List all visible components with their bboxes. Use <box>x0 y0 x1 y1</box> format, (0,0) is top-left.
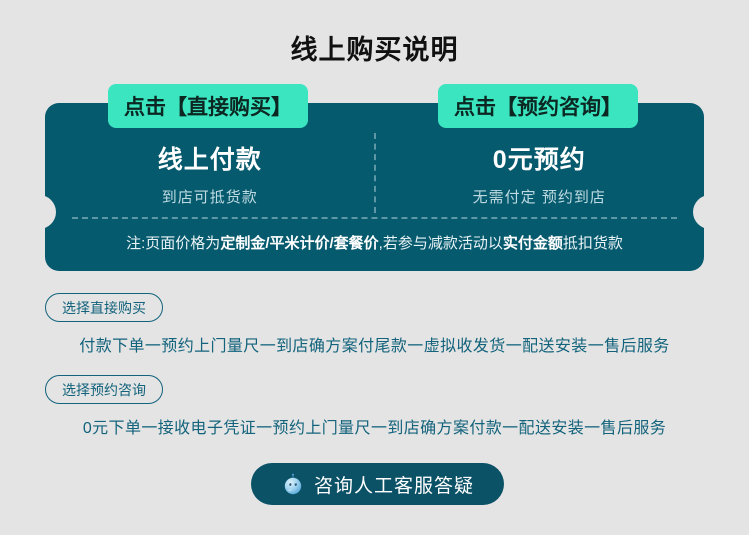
badge-appointment-consult-label: 点击【预约咨询】 <box>454 91 622 121</box>
price-note-emphasis-2: 实付金额 <box>503 235 563 252</box>
pill-select-appointment-consult-label: 选择预约咨询 <box>62 380 146 400</box>
column-zero-deposit-heading: 0元预约 <box>493 140 586 176</box>
price-note-middle: ,若参与减款活动以 <box>379 235 503 252</box>
column-zero-deposit-sub: 无需付定 预约到店 <box>473 186 606 207</box>
price-note: 注:页面价格为定制金/平米计价/套餐价,若参与减款活动以实付金额抵扣货款 <box>45 232 704 253</box>
pill-select-direct-purchase-label: 选择直接购买 <box>62 298 146 318</box>
pill-select-direct-purchase[interactable]: 选择直接购买 <box>45 293 163 322</box>
page-title: 线上购买说明 <box>0 28 749 67</box>
column-online-payment-sub: 到店可抵货款 <box>162 186 258 207</box>
column-online-payment-heading: 线上付款 <box>158 140 262 176</box>
price-note-suffix: 抵扣货款 <box>563 235 623 252</box>
promo-page: 线上购买说明 点击【直接购买】 点击【预约咨询】 线上付款 到店可抵货款 0元预… <box>0 0 749 535</box>
price-note-emphasis-1: 定制金/平米计价/套餐价 <box>220 235 378 252</box>
badge-direct-purchase[interactable]: 点击【直接购买】 <box>108 84 308 128</box>
flow-steps-appointment-consult: 0元下单一接收电子凭证一预约上门量尺一到店确方案付款一配送安装一售后服务 <box>0 414 749 438</box>
pill-select-appointment-consult[interactable]: 选择预约咨询 <box>45 375 163 404</box>
flow-steps-direct-purchase: 付款下单一预约上门量尺一到店确方案付尾款一虚拟收发货一配送安装一售后服务 <box>0 332 749 356</box>
price-note-prefix: 注:页面价格为 <box>126 235 220 252</box>
horizontal-dashed-divider <box>72 217 677 219</box>
contact-support-label: 咨询人工客服答疑 <box>314 471 474 498</box>
badge-direct-purchase-label: 点击【直接购买】 <box>124 91 292 121</box>
column-zero-deposit: 0元预约 无需付定 预约到店 <box>375 128 705 218</box>
column-online-payment: 线上付款 到店可抵货款 <box>45 128 375 218</box>
contact-support-button[interactable]: 咨询人工客服答疑 <box>251 463 504 505</box>
customer-service-bot-icon <box>281 472 305 496</box>
vertical-dashed-divider <box>374 133 376 213</box>
badge-appointment-consult[interactable]: 点击【预约咨询】 <box>438 84 638 128</box>
